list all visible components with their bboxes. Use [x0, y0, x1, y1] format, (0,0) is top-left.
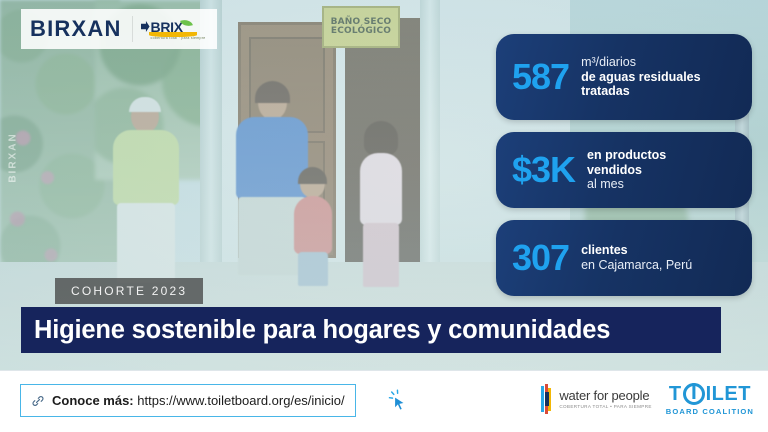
- stat-line-2: en Cajamarca, Perú: [581, 258, 692, 273]
- chain-link-icon: [31, 394, 45, 408]
- person-legs: [363, 223, 399, 287]
- photo-person-toddler: [288, 170, 338, 288]
- vertical-watermark: BIRXAN: [8, 123, 19, 193]
- wfp-tagline: COBERTURA TOTAL • PARA SIEMPRE: [559, 405, 651, 410]
- stat-line-2: de aguas residuales: [581, 70, 701, 85]
- stat-line-3: tratadas: [581, 84, 701, 99]
- stat-number: 307: [512, 240, 569, 276]
- person-torso: [360, 153, 402, 225]
- photo-column-right: [420, 0, 440, 300]
- stat-text: m³/diarios de aguas residuales tratadas: [581, 55, 701, 99]
- toilet-o-icon: [683, 383, 705, 405]
- stat-card: 307 clientes en Cajamarca, Perú: [496, 220, 752, 296]
- stat-text: en productos vendidos al mes: [587, 148, 666, 192]
- photo-sign-bano-seco: BAÑO SECO ECOLÓGICO: [322, 6, 400, 48]
- stat-card-list: 587 m³/diarios de aguas residuales trata…: [496, 34, 752, 308]
- tbc-name-part2: ILET: [706, 384, 751, 404]
- infographic-canvas: BAÑO SECO ECOLÓGICO BIRXAN BIRXAN BRIX c…: [0, 0, 768, 432]
- tbc-wordmark-row: T ILET: [669, 383, 751, 405]
- stat-line-3: al mes: [587, 177, 666, 192]
- logo-panel: BIRXAN BRIX cobertura total · para siemp…: [21, 9, 217, 49]
- partner-logos: water for people COBERTURA TOTAL • PARA …: [541, 383, 754, 416]
- stat-number: 587: [512, 59, 569, 95]
- tbc-subtitle: BOARD COALITION: [666, 408, 754, 416]
- stat-card: 587 m³/diarios de aguas residuales trata…: [496, 34, 752, 120]
- person-torso: [113, 130, 179, 205]
- stat-line-1: en productos: [587, 148, 666, 163]
- stat-line-2: vendidos: [587, 163, 666, 178]
- headline-bar: Higiene sostenible para hogares y comuni…: [21, 307, 721, 353]
- learn-more-link[interactable]: Conoce más: https://www.toiletboard.org/…: [20, 384, 356, 417]
- sign-line-2: ECOLÓGICO: [331, 27, 391, 36]
- photo-person-girl: [352, 125, 410, 290]
- link-label: Conoce más:: [52, 393, 134, 408]
- brix-swoosh-icon: [149, 32, 197, 37]
- toilet-board-coalition-logo: T ILET BOARD COALITION: [666, 383, 754, 416]
- water-for-people-logo: water for people COBERTURA TOTAL • PARA …: [541, 384, 651, 414]
- person-legs: [298, 252, 328, 286]
- stat-card: $3K en productos vendidos al mes: [496, 132, 752, 208]
- person-hair: [364, 121, 398, 155]
- tbc-name-part1: T: [669, 384, 682, 404]
- water-drop-bars-icon: [541, 384, 553, 414]
- person-legs: [117, 203, 175, 283]
- logo-divider: [132, 16, 133, 42]
- stat-text: clientes en Cajamarca, Perú: [581, 243, 692, 273]
- link-url: https://www.toiletboard.org/es/inicio/: [137, 393, 344, 408]
- cohort-badge: COHORTE 2023: [55, 278, 203, 304]
- brix-arrow-icon: [141, 21, 150, 32]
- link-text-wrapper: Conoce más: https://www.toiletboard.org/…: [52, 393, 345, 408]
- stat-line-1: m³/diarios: [581, 55, 701, 70]
- brix-logo: BRIX cobertura total · para siempre: [141, 19, 206, 40]
- wfp-name: water for people: [559, 389, 651, 402]
- person-headscarf: [129, 97, 161, 112]
- person-hair: [298, 167, 327, 184]
- photo-person-woman-green: [105, 100, 185, 285]
- headline-text: Higiene sostenible para hogares y comuni…: [34, 316, 610, 345]
- click-cursor-icon: [388, 389, 410, 413]
- person-torso: [294, 196, 332, 254]
- stat-line-1: clientes: [581, 243, 692, 258]
- stat-number: $3K: [512, 152, 575, 188]
- wfp-text: water for people COBERTURA TOTAL • PARA …: [559, 389, 651, 410]
- person-hair: [255, 81, 290, 103]
- birxan-wordmark: BIRXAN: [30, 16, 122, 42]
- footer-bar: Conoce más: https://www.toiletboard.org/…: [0, 370, 768, 432]
